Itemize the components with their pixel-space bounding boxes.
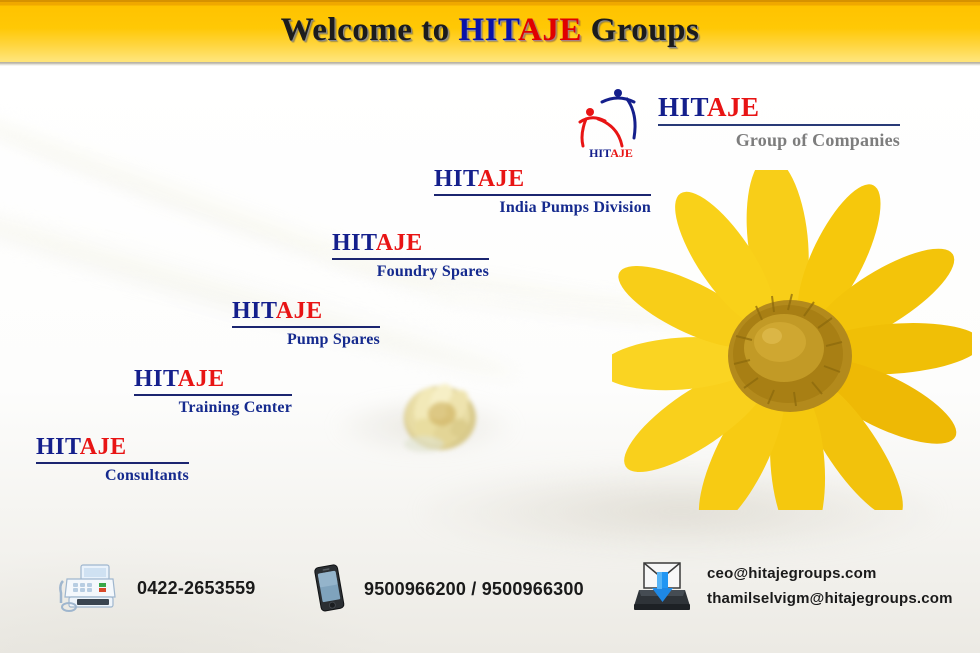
division-subtitle: Foundry Spares bbox=[332, 260, 489, 283]
email-inbox-icon bbox=[633, 560, 691, 612]
email-address-secondary[interactable]: thamilselvigm@hitajegroups.com bbox=[707, 586, 953, 611]
title-groups-text: Groups bbox=[582, 12, 700, 48]
division-pump-spares[interactable]: HITAJE Pump Spares bbox=[232, 298, 380, 351]
division-brand: HITAJE bbox=[36, 434, 189, 460]
division-brand: HITAJE bbox=[332, 230, 489, 256]
email-address-ceo[interactable]: ceo@hitajegroups.com bbox=[707, 561, 953, 586]
division-consultants[interactable]: HITAJE Consultants bbox=[36, 434, 189, 487]
division-india-pumps[interactable]: HITAJE India Pumps Division bbox=[434, 166, 651, 219]
division-brand: HITAJE bbox=[434, 166, 651, 192]
division-group-of-companies[interactable]: HITAJE Group of Companies bbox=[658, 92, 900, 153]
email-addresses: ceo@hitajegroups.com thamilselvigm@hitaj… bbox=[707, 561, 953, 611]
daisy-flower-image bbox=[612, 170, 972, 510]
division-subtitle: Consultants bbox=[36, 464, 189, 487]
contact-mobile: 9500966200 / 9500966300 bbox=[311, 563, 584, 615]
fax-number: 0422-2653559 bbox=[137, 578, 256, 599]
contact-fax: 0422-2653559 bbox=[57, 563, 256, 613]
page-root: Welcome to HITAJE Groups bbox=[0, 0, 980, 653]
page-title: Welcome to HITAJE Groups bbox=[0, 9, 980, 51]
division-brand: HITAJE bbox=[134, 366, 292, 392]
division-subtitle: Group of Companies bbox=[658, 126, 900, 153]
division-brand: HITAJE bbox=[658, 92, 900, 122]
division-training-center[interactable]: HITAJE Training Center bbox=[134, 366, 292, 419]
logo-wordmark-aje: AJE bbox=[610, 146, 633, 160]
mobile-numbers: 9500966200 / 9500966300 bbox=[364, 579, 584, 600]
mobile-phone-icon bbox=[311, 563, 347, 615]
division-foundry-spares[interactable]: HITAJE Foundry Spares bbox=[332, 230, 489, 283]
title-welcome-text: Welcome to bbox=[281, 12, 459, 48]
title-hit-text: HIT bbox=[458, 12, 518, 48]
title-aje-text: AJE bbox=[518, 12, 582, 48]
division-subtitle: India Pumps Division bbox=[434, 196, 651, 219]
division-subtitle: Pump Spares bbox=[232, 328, 380, 351]
fax-machine-icon bbox=[57, 563, 119, 613]
flower-bud-icon bbox=[394, 372, 486, 456]
division-subtitle: Training Center bbox=[134, 396, 292, 419]
contact-email: ceo@hitajegroups.com thamilselvigm@hitaj… bbox=[633, 560, 953, 612]
logo-wordmark-hit: HITAJE bbox=[589, 146, 633, 160]
division-brand: HITAJE bbox=[232, 298, 380, 324]
hitaje-logo-icon: HITAJE bbox=[578, 86, 644, 160]
